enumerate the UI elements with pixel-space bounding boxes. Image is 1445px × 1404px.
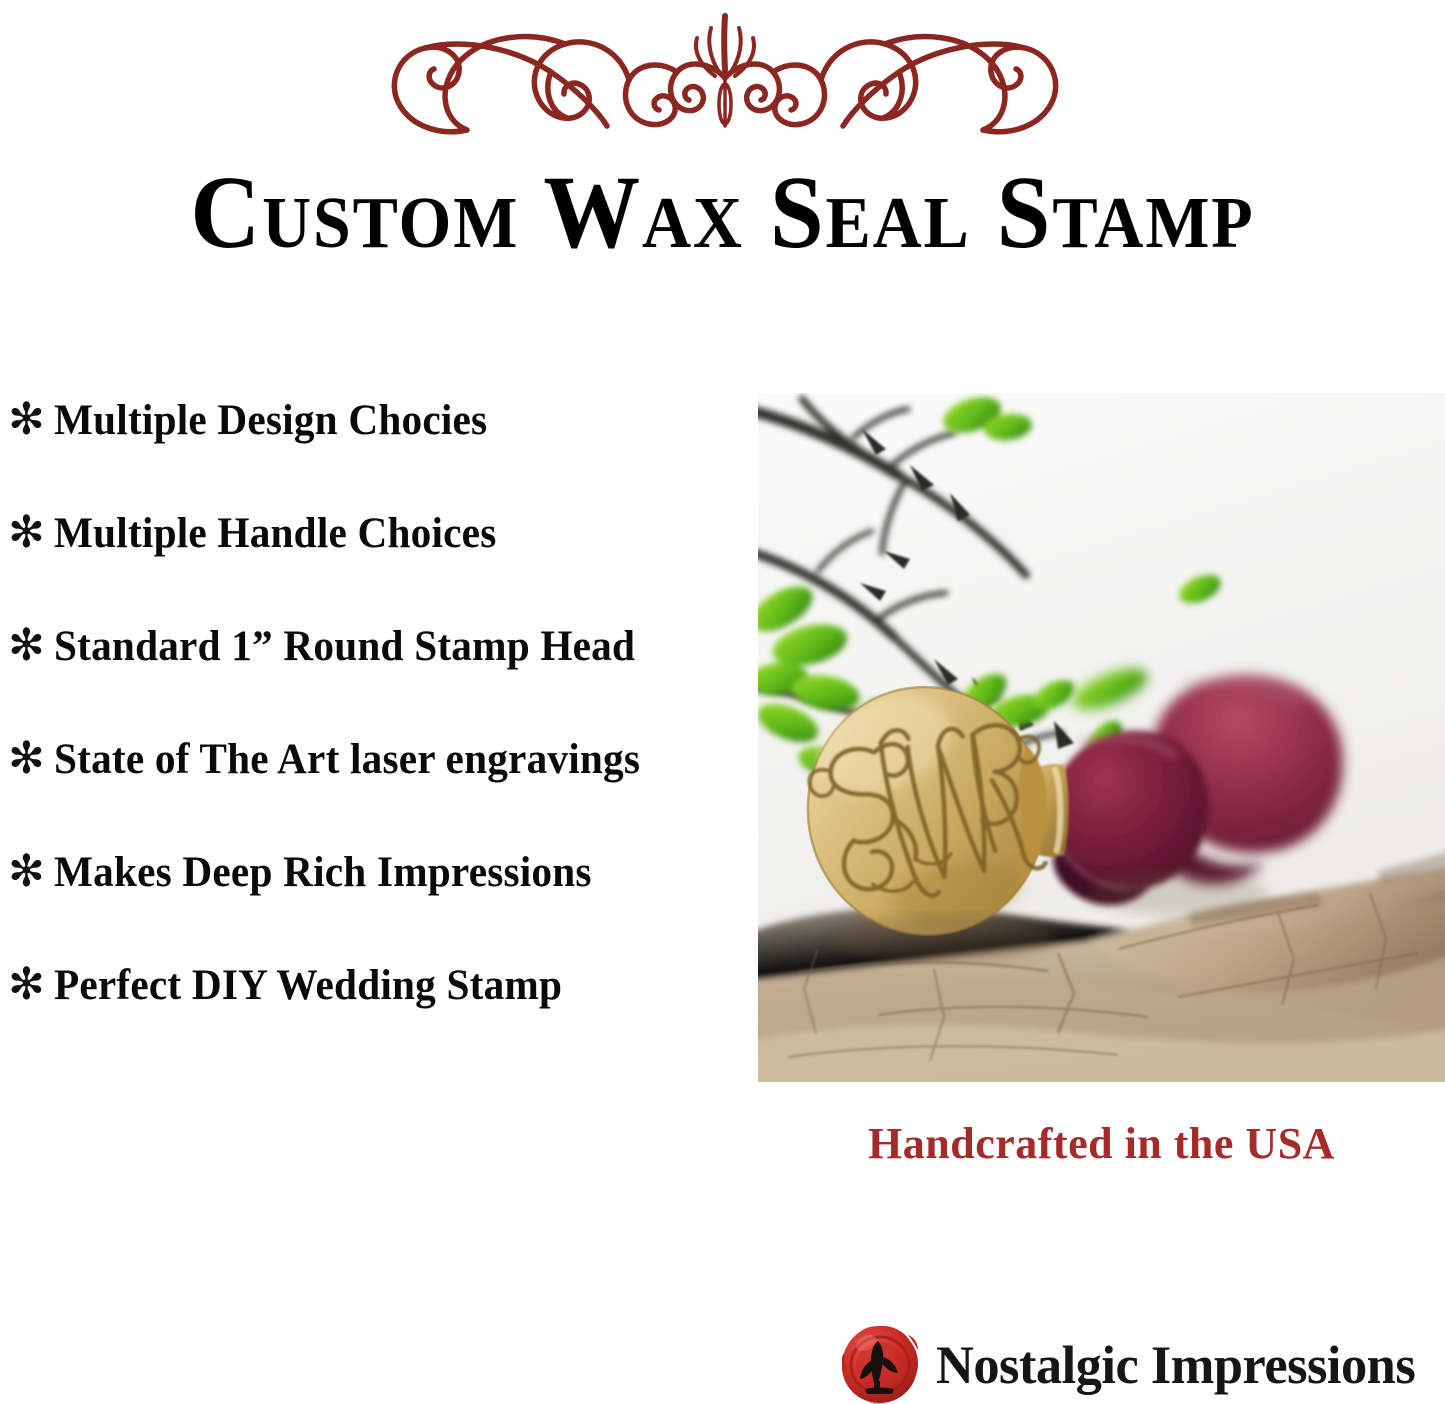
product-infographic: Custom Wax Seal Stamp ✻ Multiple Design … xyxy=(0,0,1445,1404)
list-item: ✻ Multiple Handle Choices xyxy=(8,511,748,624)
list-item: ✻ State of The Art laser engravings xyxy=(8,737,748,850)
asterisk-bullet-icon: ✻ xyxy=(8,511,54,555)
list-item: ✻ Standard 1” Round Stamp Head xyxy=(8,624,748,737)
product-photo xyxy=(758,393,1445,1082)
asterisk-bullet-icon: ✻ xyxy=(8,624,54,668)
feature-label: State of The Art laser engravings xyxy=(54,738,640,781)
feature-label: Standard 1” Round Stamp Head xyxy=(54,625,635,668)
page-title: Custom Wax Seal Stamp xyxy=(51,158,1395,267)
asterisk-bullet-icon: ✻ xyxy=(8,398,54,442)
list-item: ✻ Perfect DIY Wedding Stamp xyxy=(8,963,748,1076)
asterisk-bullet-icon: ✻ xyxy=(8,737,54,781)
feature-list: ✻ Multiple Design Chocies ✻ Multiple Han… xyxy=(8,398,748,1076)
filigree-scroll-ornament-icon xyxy=(315,8,1135,143)
list-item: ✻ Multiple Design Chocies xyxy=(8,398,748,511)
wax-seal-quill-logo-icon xyxy=(838,1323,922,1404)
brand-logo: Nostalgic Impressions xyxy=(838,1322,1430,1404)
asterisk-bullet-icon: ✻ xyxy=(8,963,54,1007)
asterisk-bullet-icon: ✻ xyxy=(8,850,54,894)
feature-label: Makes Deep Rich Impressions xyxy=(54,851,592,894)
handcrafted-caption: Handcrafted in the USA xyxy=(758,1118,1445,1169)
feature-label: Multiple Design Chocies xyxy=(54,399,487,442)
brand-name: Nostalgic Impressions xyxy=(936,1338,1415,1392)
list-item: ✻ Makes Deep Rich Impressions xyxy=(8,850,748,963)
feature-label: Multiple Handle Choices xyxy=(54,512,496,555)
feature-label: Perfect DIY Wedding Stamp xyxy=(54,964,562,1007)
